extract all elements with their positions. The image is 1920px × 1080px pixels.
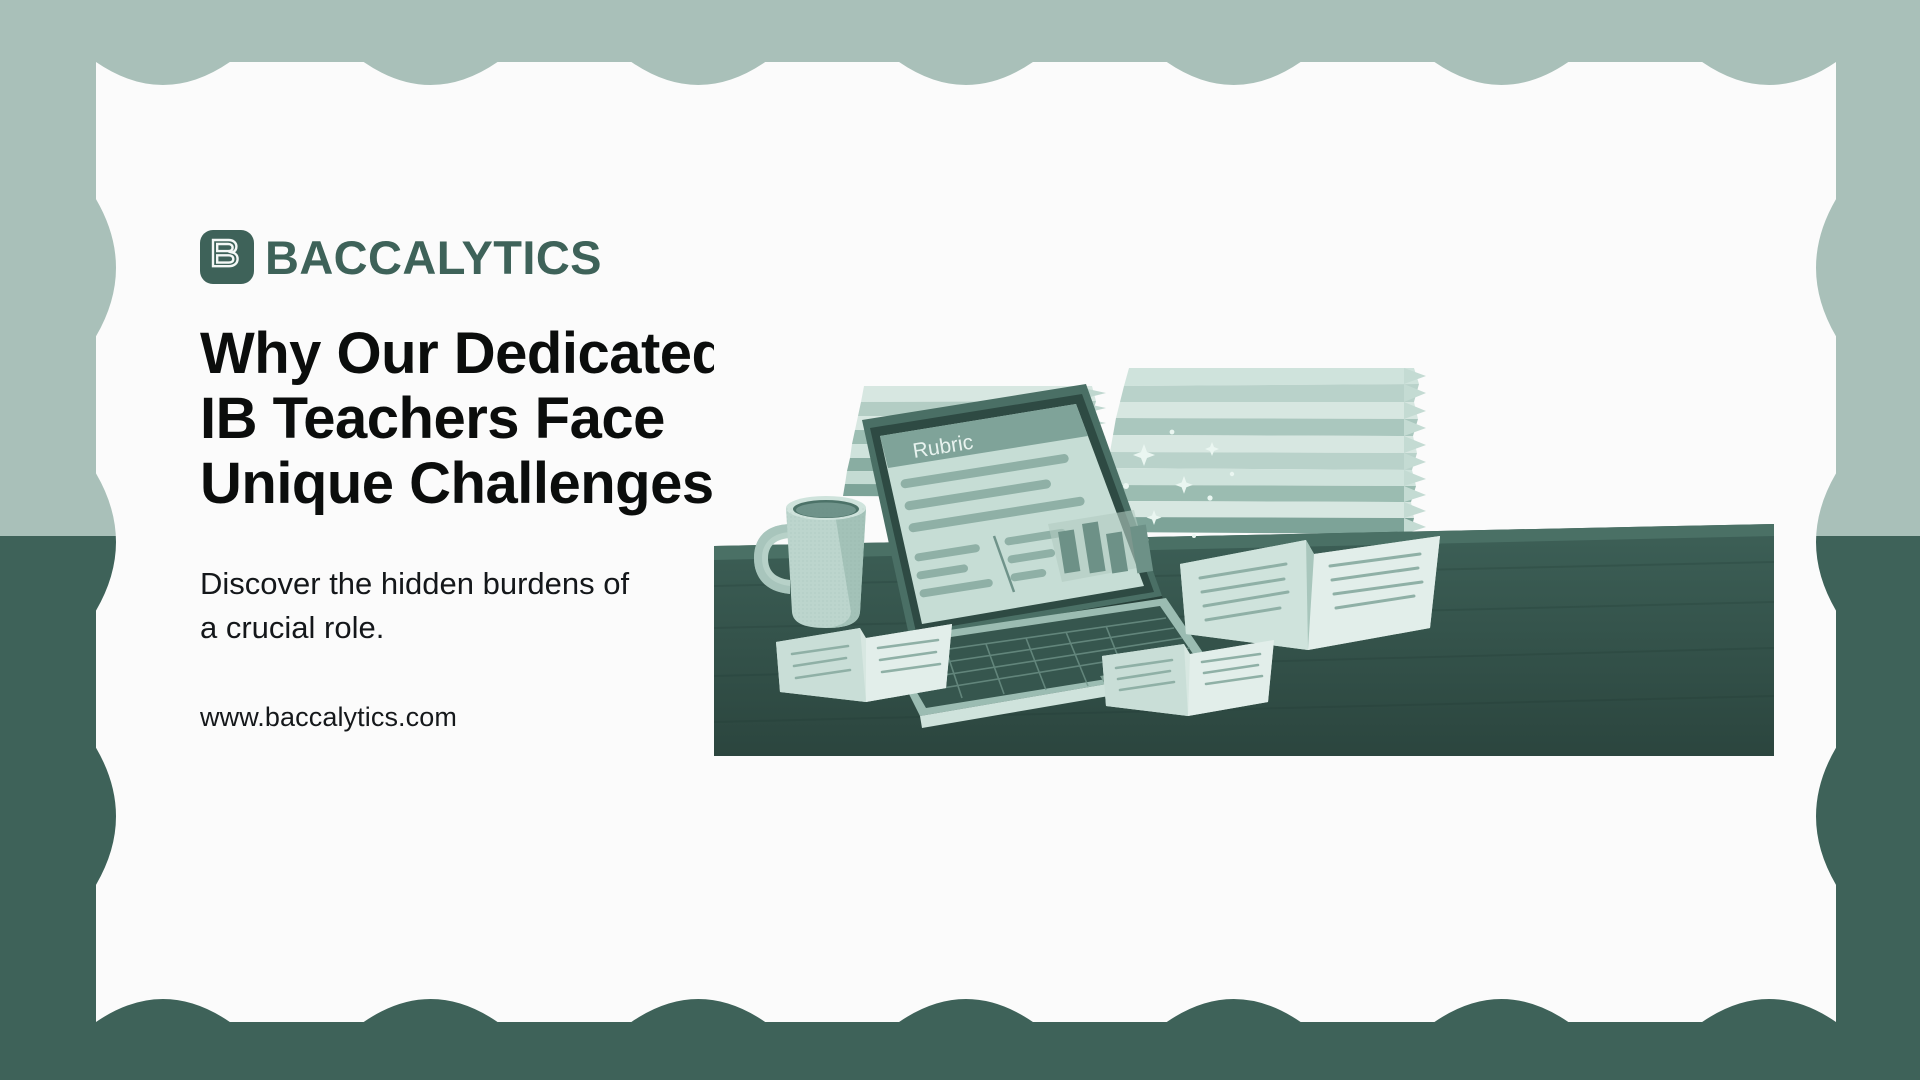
website-url[interactable]: www.baccalytics.com — [200, 702, 457, 733]
illustration-svg: Rubric — [714, 236, 1774, 756]
baccalytics-logo-mark-icon — [200, 230, 254, 284]
card-content: BACCALYTICS Why Our Dedicated IB Teacher… — [96, 62, 1836, 1022]
teacher-desk-illustration: Rubric — [714, 236, 1774, 756]
brand-logo[interactable]: BACCALYTICS — [200, 230, 602, 284]
poster-canvas: BACCALYTICS Why Our Dedicated IB Teacher… — [0, 0, 1920, 1080]
brand-wordmark: BACCALYTICS — [265, 234, 602, 281]
